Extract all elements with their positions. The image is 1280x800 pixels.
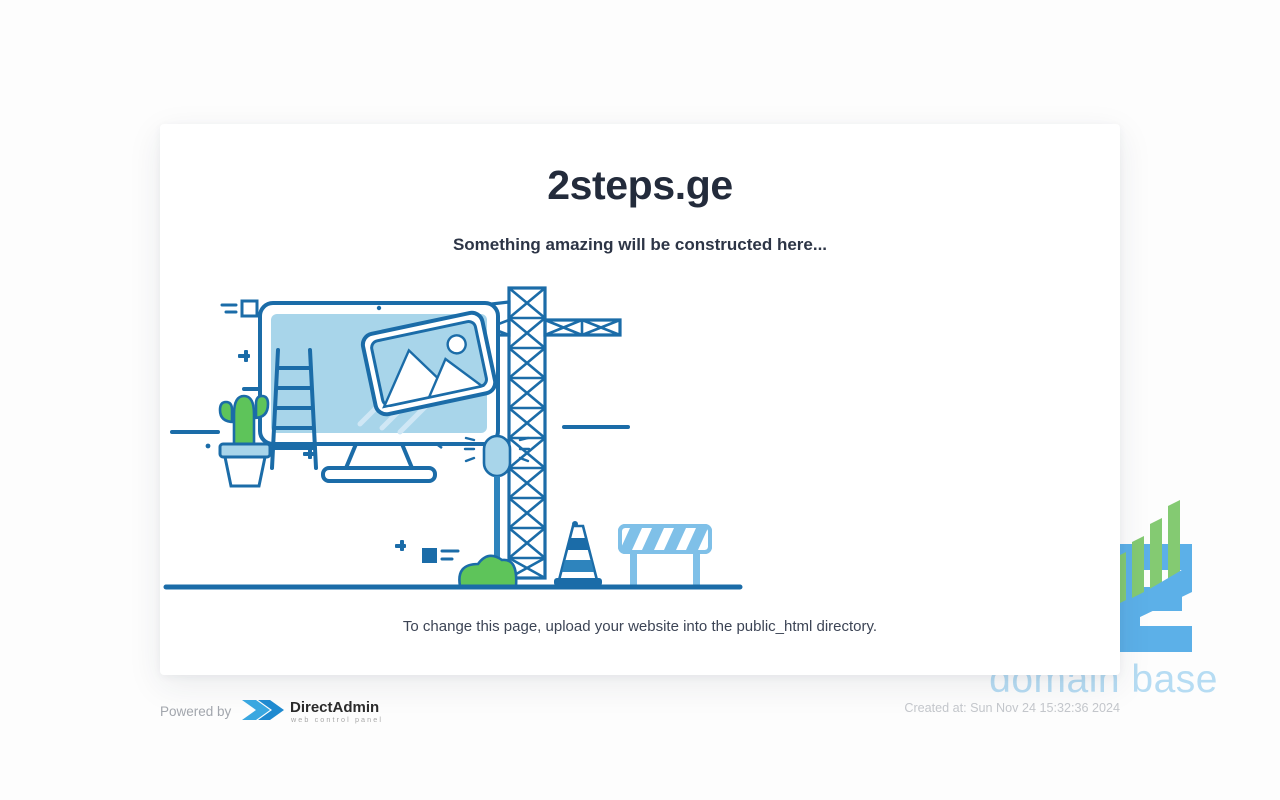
- bush: [459, 556, 516, 586]
- powered-by-block: Powered by DirectAdmin web control panel: [160, 696, 388, 726]
- page-subtitle: Something amazing will be constructed he…: [160, 209, 1120, 255]
- directadmin-tagline: web control panel: [290, 715, 383, 724]
- directadmin-logo[interactable]: DirectAdmin web control panel: [240, 696, 388, 726]
- ge-logo-wedge: [1114, 564, 1192, 618]
- page-root: domain base 2steps.ge Something amazing …: [0, 0, 1280, 800]
- traffic-cone: [554, 526, 602, 586]
- powered-by-label: Powered by: [160, 704, 231, 719]
- page-title: 2steps.ge: [160, 124, 1120, 209]
- construction-illustration: [160, 272, 1120, 620]
- directadmin-wordmark: DirectAdmin: [290, 699, 379, 716]
- ge-logo-e: [1110, 544, 1192, 652]
- page-footer: Powered by DirectAdmin web control panel…: [160, 690, 1120, 730]
- upload-instruction-text: To change this page, upload your website…: [160, 618, 1120, 635]
- list-icon-left: [222, 301, 257, 316]
- directadmin-chevron-icon: [242, 700, 284, 720]
- list-icon-right: [422, 548, 458, 563]
- ge-logo-growth-bars: [1114, 500, 1180, 606]
- road-barrier: [620, 526, 710, 586]
- created-at-timestamp: Created at: Sun Nov 24 15:32:36 2024: [904, 701, 1120, 715]
- main-content-card: 2steps.ge Something amazing will be cons…: [160, 124, 1120, 675]
